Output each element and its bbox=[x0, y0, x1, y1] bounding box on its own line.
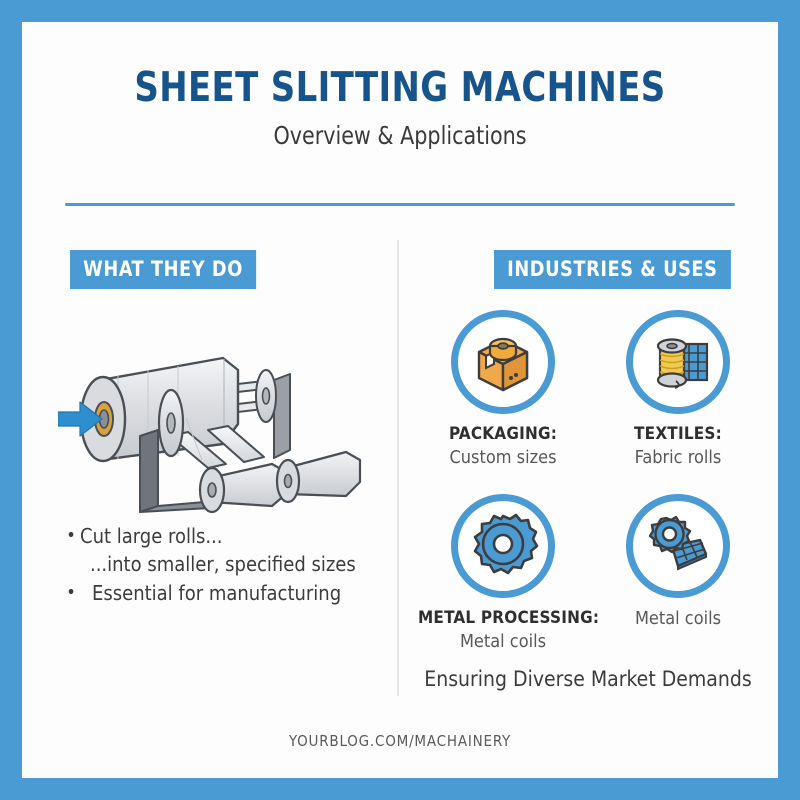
header: SHEET SLITTING MACHINES Overview & Appli… bbox=[22, 66, 778, 150]
thread-spool-fabric-icon bbox=[642, 326, 714, 398]
bullet-dot-icon: • bbox=[62, 522, 80, 549]
industry-card-metal-processing[interactable]: METAL PROCESSING: Metal coils bbox=[418, 494, 588, 652]
list-item: • Cut large rolls... bbox=[62, 522, 392, 550]
column-divider bbox=[397, 240, 399, 696]
industry-desc: Metal coils bbox=[418, 631, 588, 652]
infographic-canvas: SHEET SLITTING MACHINES Overview & Appli… bbox=[22, 22, 778, 778]
industries-icon-grid: PACKAGING: Custom sizes bbox=[418, 310, 758, 660]
benefits-list: • Cut large rolls... ...into smaller, sp… bbox=[62, 522, 392, 607]
industry-desc: Custom sizes bbox=[418, 447, 588, 468]
list-item-label: Essential for manufacturing bbox=[80, 579, 392, 607]
footer-url: YOURBLOG.COM/MACHAINERY bbox=[22, 732, 778, 750]
icon-ring bbox=[626, 494, 730, 598]
page-title: SHEET SLITTING MACHINES bbox=[52, 66, 748, 109]
industry-label: TEXTILES: bbox=[593, 424, 763, 444]
industry-label: PACKAGING: bbox=[418, 424, 588, 444]
gear-sheet-icon bbox=[642, 510, 714, 582]
bullet-dot-icon: • bbox=[62, 579, 80, 606]
industry-card-metal-coils[interactable]: Metal coils bbox=[593, 494, 763, 629]
list-item-label: Cut large rolls... bbox=[80, 522, 392, 550]
title-divider bbox=[65, 203, 735, 206]
industry-desc: Fabric rolls bbox=[593, 447, 763, 468]
list-item-continuation: ...into smaller, specified sizes bbox=[90, 550, 392, 578]
section-badge-what-they-do: WHAT THEY DO bbox=[70, 250, 256, 289]
icon-ring bbox=[451, 494, 555, 598]
icon-ring bbox=[451, 310, 555, 414]
industries-tagline: Ensuring Diverse Market Demands bbox=[418, 667, 758, 691]
industry-card-textiles[interactable]: TEXTILES: Fabric rolls bbox=[593, 310, 763, 468]
page-subtitle: Overview & Applications bbox=[52, 121, 748, 150]
industry-desc: Metal coils bbox=[593, 608, 763, 629]
icon-ring bbox=[626, 310, 730, 414]
gear-icon bbox=[467, 510, 539, 582]
packaging-box-icon bbox=[467, 326, 539, 398]
infographic-poster: SHEET SLITTING MACHINES Overview & Appli… bbox=[0, 0, 800, 800]
section-badge-industries-uses: INDUSTRIES & USES bbox=[494, 250, 731, 289]
list-item: • Essential for manufacturing bbox=[62, 579, 392, 607]
industry-label: METAL PROCESSING: bbox=[418, 608, 588, 628]
industry-card-packaging[interactable]: PACKAGING: Custom sizes bbox=[418, 310, 588, 468]
slitting-machine-illustration bbox=[58, 318, 388, 518]
